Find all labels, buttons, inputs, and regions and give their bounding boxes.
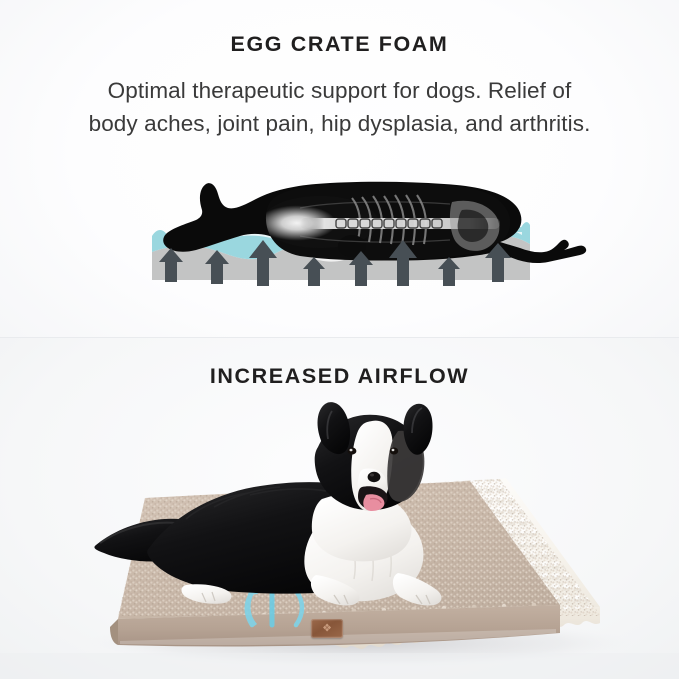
section-heading-egg-crate-foam: EGG CRATE FOAM: [0, 32, 679, 57]
body-line-2: body aches, joint pain, hip dysplasia, a…: [0, 107, 679, 140]
dog-nose: [368, 472, 381, 482]
infographic-canvas: EGG CRATE FOAM Optimal therapeutic suppo…: [0, 0, 679, 679]
brand-leather-tag: ❖: [311, 619, 343, 638]
section-heading-increased-airflow: INCREASED AIRFLOW: [0, 364, 679, 389]
dog-xray-on-foam-diagram: [0, 170, 679, 315]
section-egg-crate-foam: EGG CRATE FOAM Optimal therapeutic suppo…: [0, 0, 679, 337]
brand-logo-glyph: ❖: [322, 623, 332, 634]
body-line-1: Optimal therapeutic support for dogs. Re…: [0, 74, 679, 107]
section-body-egg-crate-foam: Optimal therapeutic support for dogs. Re…: [0, 74, 679, 140]
dog-right-eye: [390, 448, 398, 455]
dog-left-eye: [348, 447, 357, 454]
xray-diagram-svg: [0, 170, 679, 315]
